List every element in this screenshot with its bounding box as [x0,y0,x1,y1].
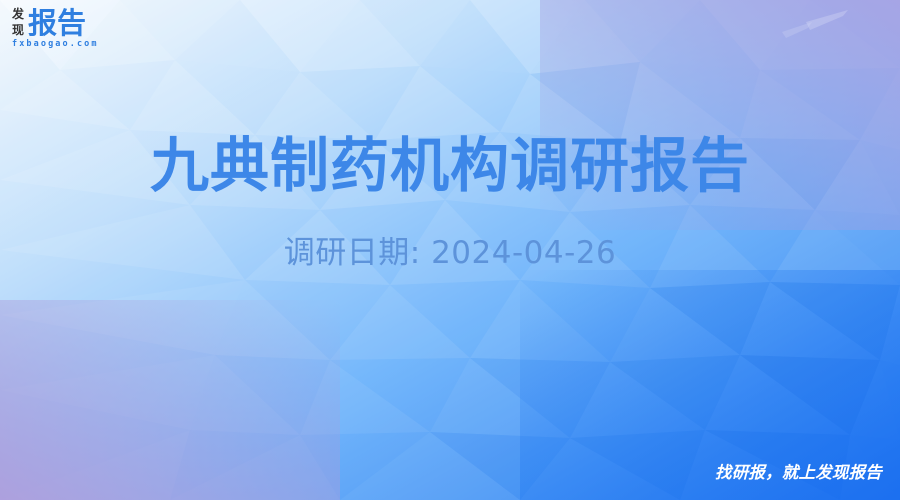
logo-mark-char-1: 发 [12,8,24,21]
survey-date-subtitle: 调研日期: 2024-04-26 [0,232,900,274]
page-title: 九典制药机构调研报告 [0,130,900,202]
logo-wordmark: 报告 [28,8,86,38]
logo-domain-text: fxbaogao.com [12,39,99,50]
logo-wordmark-row: 发 现 报告 [12,8,99,38]
logo-mark-icon: 发 现 [12,8,24,38]
logo-mark-char-2: 现 [12,24,24,37]
report-cover-slide: 发 现 报告 fxbaogao.com 九典制药机构调研报告 调研日期: 202… [0,0,900,500]
brand-logo[interactable]: 发 现 报告 fxbaogao.com [12,8,99,50]
brand-tagline: 找研报，就上发现报告 [715,463,882,483]
